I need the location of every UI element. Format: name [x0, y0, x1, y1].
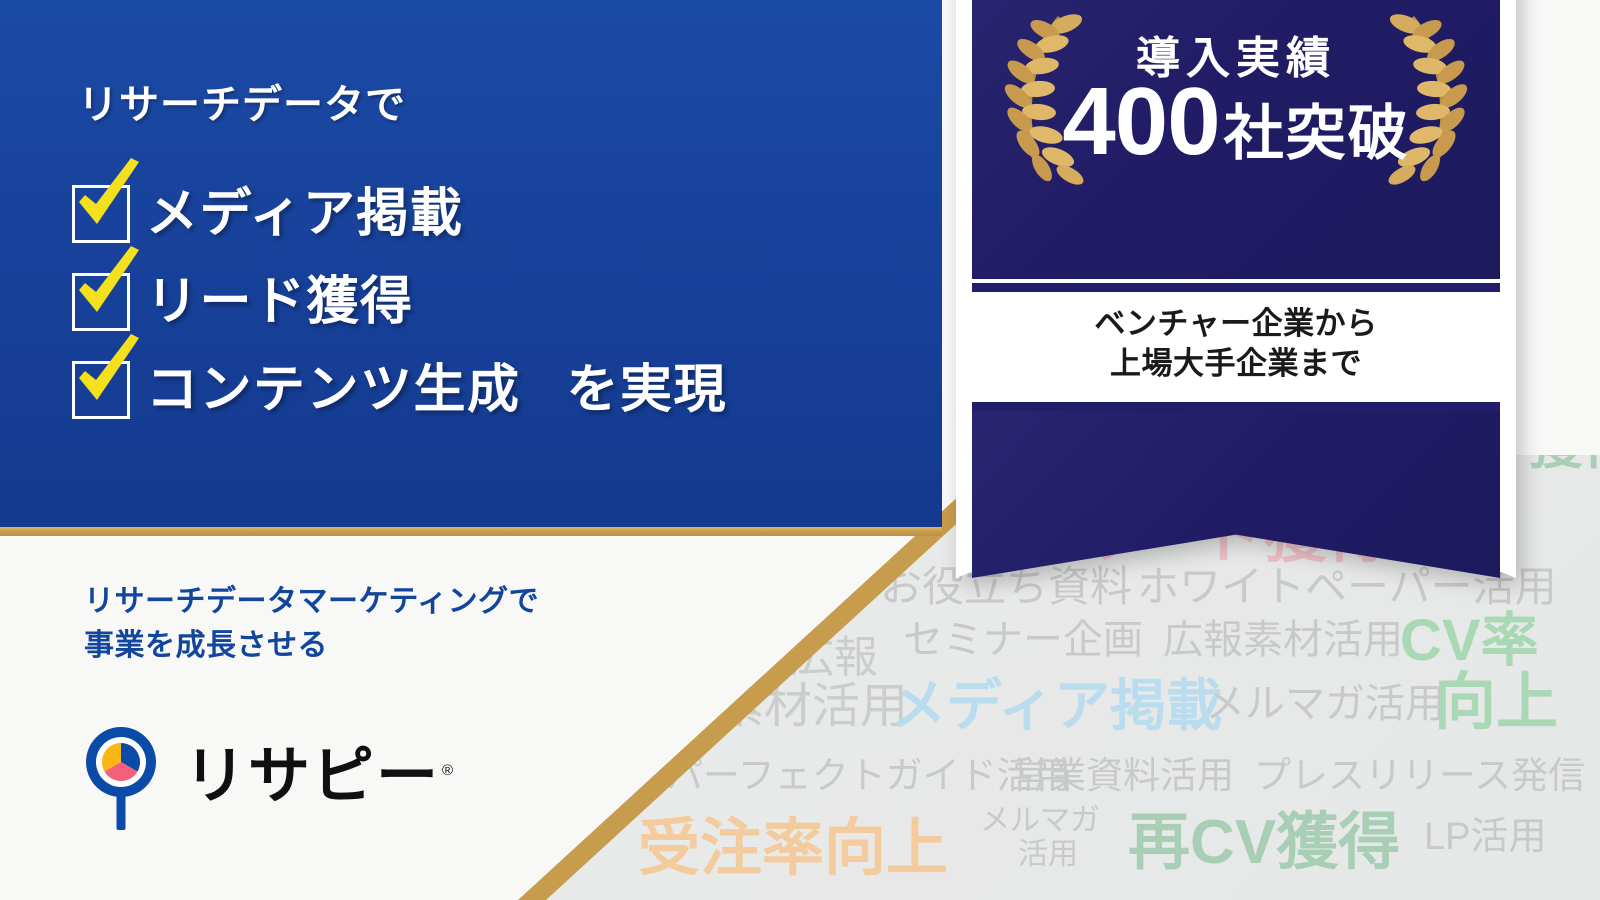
checklist-item-3[interactable]: コンテンツ生成を実現 [72, 346, 727, 434]
checklist-item-1[interactable]: メディア掲載 [72, 170, 727, 258]
wordcloud-term: 向上 [1434, 672, 1558, 734]
wordcloud-term: CV率 [1400, 612, 1539, 670]
wordcloud-term: メルマガ [980, 806, 1100, 836]
wordcloud-term: LP活用 [1424, 818, 1546, 856]
badge-bottom-ribbon [972, 411, 1500, 578]
slide-canvas: リード獲得お役立ち資料ホワイトペーパー活用セミナー企画広報素材活用CV率広報素材… [0, 0, 1600, 900]
wordcloud-term: 受注率向上 [638, 818, 948, 880]
wordcloud-term: パーフェクトガイド活用 [666, 757, 1071, 794]
checklist-item-2[interactable]: リード獲得 [72, 258, 727, 346]
tagline-block: リサーチデータマーケティングで 事業を成長させる [84, 580, 539, 667]
hero-lead-text: リサーチデータで [78, 72, 406, 130]
registered-mark: ® [442, 762, 455, 779]
wordcloud-term: 再CV獲得 [1128, 812, 1400, 874]
logo-wordmark: リサピー® [184, 746, 455, 808]
tagline-line-2: 事業を成長させる [84, 624, 539, 668]
badge-number-value: 400 [1062, 68, 1219, 175]
checklist-label-3: コンテンツ生成を実現 [146, 364, 727, 416]
checkbox-1[interactable] [72, 185, 130, 243]
hero-panel: リサーチデータで メディア掲載リード獲得コンテンツ生成を実現 [0, 0, 942, 528]
badge-subtitle-line-1: ベンチャー企業から [956, 304, 1516, 344]
checkbox-2[interactable] [72, 273, 130, 331]
brand-logo: リサピー® [78, 722, 455, 832]
checklist-suffix-3: を実現 [567, 361, 728, 419]
checklist-label-1: メディア掲載 [146, 188, 463, 240]
badge-figure: 400社突破 [956, 74, 1516, 170]
wordcloud-term: セミナー企画 [903, 620, 1143, 660]
check-mark-icon [71, 334, 145, 414]
checklist-label-2: リード獲得 [146, 276, 414, 328]
check-mark-icon [71, 246, 145, 326]
feature-checklist: メディア掲載リード獲得コンテンツ生成を実現 [72, 170, 727, 434]
badge-subtitle-line-2: 上場大手企業まで [956, 344, 1516, 384]
badge-subtitle: ベンチャー企業から 上場大手企業まで [956, 304, 1516, 383]
wordcloud-term: メディア掲載 [890, 678, 1222, 734]
wordcloud-term: 営業資料活用 [1012, 757, 1234, 794]
checkbox-3[interactable] [72, 361, 130, 419]
award-badge: 導入実績 400社突破 ベンチャー企業から 上場大手企業まで [956, 0, 1516, 578]
check-mark-icon [71, 158, 145, 238]
wordcloud-term: 広報素材活用 [1163, 620, 1403, 660]
logo-name: リサピー [184, 742, 440, 811]
wordcloud-term: 活用 [1018, 840, 1078, 870]
wordcloud-term: メルマガ活用 [1205, 684, 1445, 724]
magnifier-pie-chart-icon [78, 722, 164, 832]
badge-number-unit: 社突破 [1224, 100, 1410, 167]
wordcloud-term: プレスリリース発信 [1254, 757, 1585, 794]
hero-gold-underline [0, 527, 942, 536]
tagline-line-1: リサーチデータマーケティングで [84, 580, 539, 624]
